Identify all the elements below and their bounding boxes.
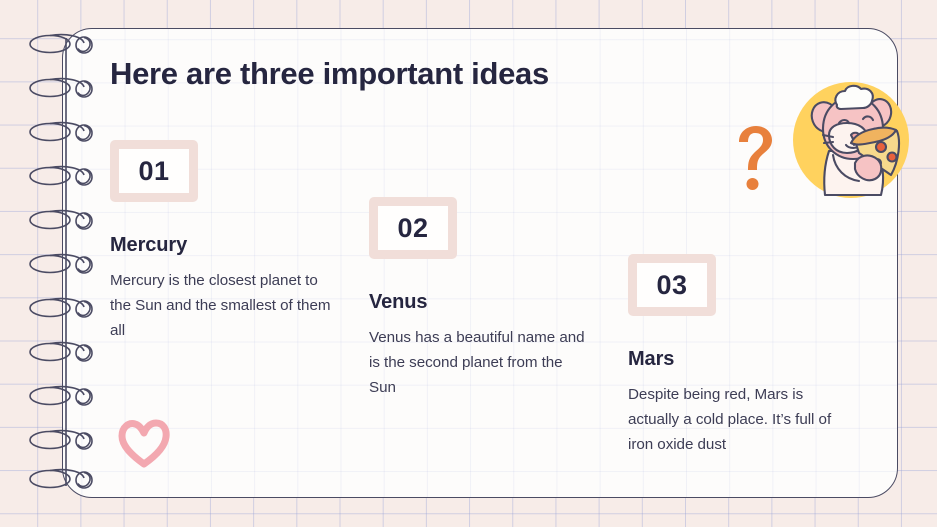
heart-icon	[118, 418, 170, 468]
slide-canvas: Here are three important ideas 01 Mercur…	[0, 0, 937, 527]
idea-number-badge-01: 01	[110, 140, 198, 202]
idea-title-01: Mercury	[110, 234, 334, 257]
idea-block-02: 02 Venus Venus has a beautiful name and …	[369, 197, 593, 400]
idea-title-02: Venus	[369, 291, 593, 314]
mouse-hand	[855, 156, 881, 181]
idea-block-03: 03 Mars Despite being red, Mars is actua…	[628, 254, 852, 457]
page-title: Here are three important ideas	[110, 56, 730, 92]
idea-body-02: Venus has a beautiful name and is the se…	[369, 325, 593, 400]
pepperoni	[876, 142, 886, 152]
idea-number-badge-02: 02	[369, 197, 457, 259]
idea-body-01: Mercury is the closest planet to the Sun…	[110, 268, 334, 343]
question-mark-icon	[731, 124, 777, 192]
mouse-chef-eating-pizza-illustration	[789, 79, 913, 201]
idea-body-03: Despite being red, Mars is actually a co…	[628, 382, 852, 457]
pepperoni	[888, 153, 897, 162]
mouse-whisker-2	[824, 142, 833, 143]
idea-block-01: 01 Mercury Mercury is the closest planet…	[110, 140, 334, 343]
idea-number-badge-03: 03	[628, 254, 716, 316]
idea-title-03: Mars	[628, 348, 852, 371]
